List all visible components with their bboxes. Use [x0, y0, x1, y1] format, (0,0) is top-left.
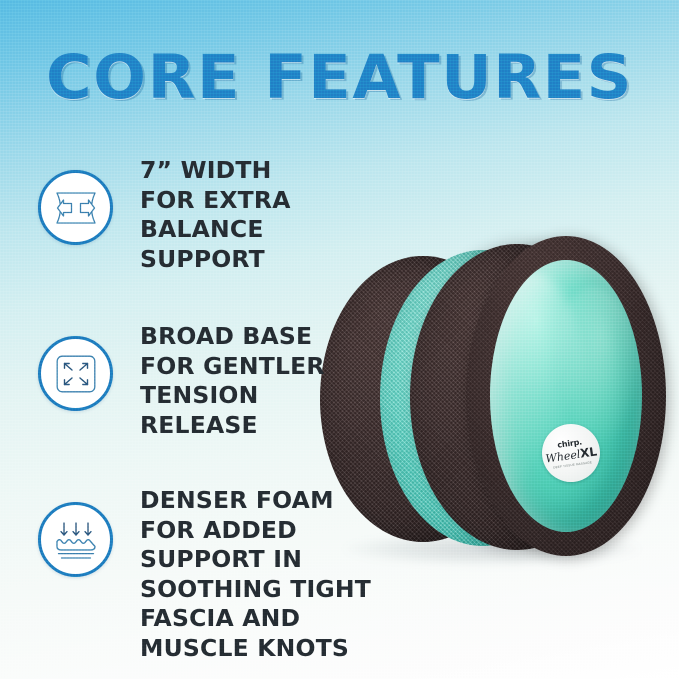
- foam-compression-icon: [52, 519, 100, 561]
- expand-four-arrows-icon-badge: [38, 336, 113, 411]
- feature-item-width: 7” WIDTH FOR EXTRA BALANCE SUPPORT: [38, 156, 291, 274]
- feature-item-denser-foam: DENSER FOAM FOR ADDED SUPPORT IN SOOTHIN…: [38, 486, 371, 663]
- foam-compression-icon-badge: [38, 502, 113, 577]
- sticker-model-size: XL: [579, 444, 598, 460]
- feature-label-broad-base: BROAD BASE FOR GENTLER TENSION RELEASE: [140, 322, 325, 440]
- page-title: CORE FEATURES: [0, 47, 679, 109]
- width-arrows-icon-badge: [38, 170, 113, 245]
- expand-four-arrows-icon: [55, 354, 97, 394]
- feature-label-width: 7” WIDTH FOR EXTRA BALANCE SUPPORT: [140, 156, 291, 274]
- feature-label-denser-foam: DENSER FOAM FOR ADDED SUPPORT IN SOOTHIN…: [140, 486, 371, 663]
- core-features-poster: CORE FEATURES chirp chirp. WheelXL: [0, 0, 679, 679]
- wheel-inner-hub: chirp. WheelXL DEEP TISSUE MASSAGE: [490, 260, 642, 532]
- feature-item-broad-base: BROAD BASE FOR GENTLER TENSION RELEASE: [38, 322, 325, 440]
- width-arrows-icon: [53, 189, 99, 227]
